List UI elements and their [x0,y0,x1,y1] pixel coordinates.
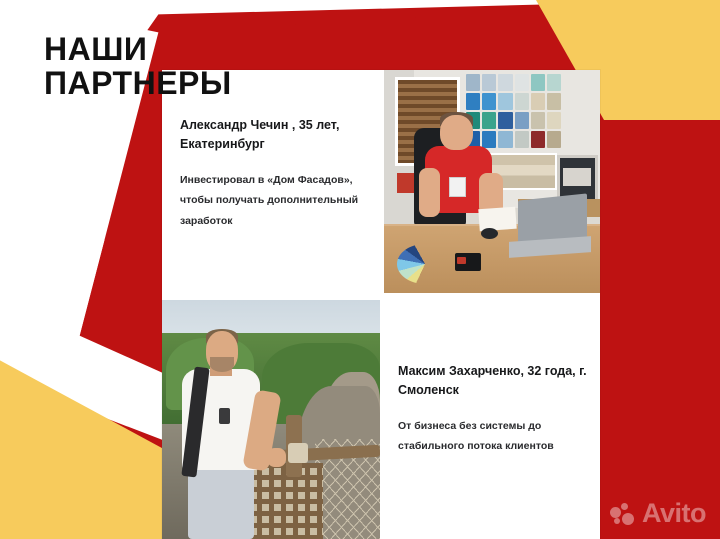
testimonial-2-description: От бизнеса без системы до стабильного по… [398,416,590,457]
color-fan-samples [397,244,453,284]
cabinet-shelf [563,168,591,186]
hand-on-rail [267,448,287,467]
avito-watermark: Avito [610,500,706,527]
tshirt-logo [219,408,230,425]
avito-wordmark: Avito [642,500,706,527]
name-badge [449,177,466,197]
left-arm [419,168,441,217]
testimonial-2-text-block: Максим Захарченко, 32 года, г. Смоленск … [394,300,600,539]
testimonial-1-description: Инвестировал в «Дом Фасадов», чтобы полу… [180,170,368,231]
face [440,115,472,151]
testimonials-card: Александр Чечин , 35 лет, Екатеринбург И… [162,70,600,539]
testimonial-2-name: Максим Захарченко, 32 года, г. Смоленск [398,362,590,400]
slide-canvas: НАШИ ПАРТНЕРЫ Александр Чечин , 35 лет, … [0,0,720,539]
color-swatch-grid [466,74,561,148]
avito-dots-icon [610,503,636,525]
testimonial-1-name: Александр Чечин , 35 лет, Екатеринбург [180,116,368,154]
page-title: НАШИ ПАРТНЕРЫ [44,33,232,101]
testimonial-2-photo [162,300,380,539]
testimonial-1-text-block: Александр Чечин , 35 лет, Екатеринбург И… [162,70,384,293]
testimonial-1-photo [384,70,600,293]
shorts [188,465,253,539]
beard [210,357,234,371]
wooden-lattice-fence [245,463,323,539]
rope-binding [288,443,308,462]
device-indicator [457,257,466,264]
